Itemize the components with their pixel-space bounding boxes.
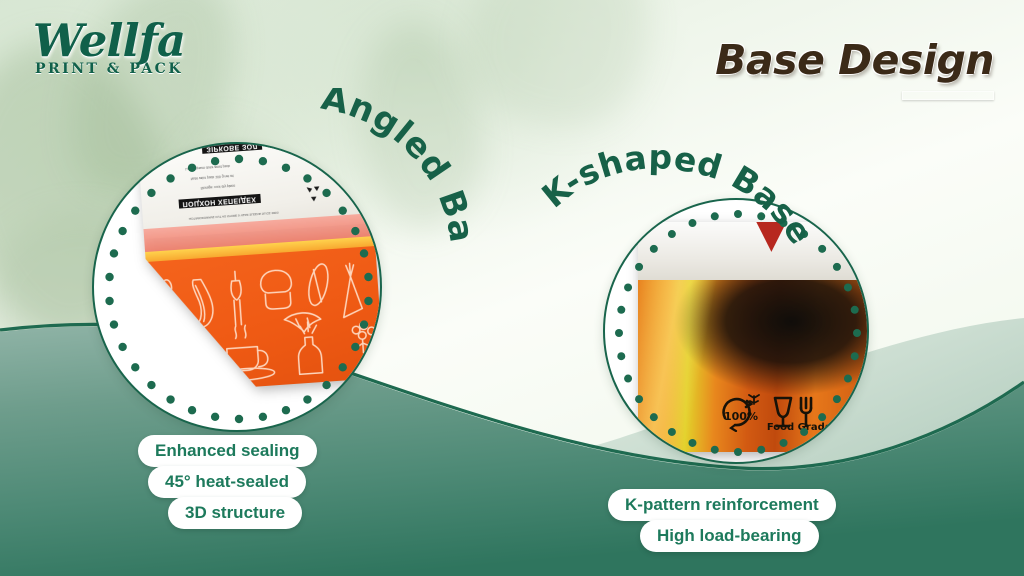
slide-canvas: Wellfa PRINT & PACK Base Design ЗІРКОВЕ …	[0, 0, 1024, 576]
feature-pill-load-bearing[interactable]: High load-bearing	[640, 520, 819, 552]
page-title: Base Design	[715, 38, 994, 82]
feature-pill-k-pattern[interactable]: K-pattern reinforcement	[608, 489, 836, 521]
feature-pill-enhanced-sealing[interactable]: Enhanced sealing	[138, 435, 317, 467]
brand-logo: Wellfa PRINT & PACK	[14, 18, 204, 90]
feature-pill-heat-sealed[interactable]: 45° heat-sealed	[148, 466, 306, 498]
k-circle-dot-ring	[605, 200, 869, 464]
title-underline-segment-right	[939, 92, 993, 99]
brand-name: Wellfa	[14, 18, 204, 64]
page-title-block: Base Design	[715, 38, 994, 100]
brand-tagline: PRINT & PACK	[14, 61, 204, 77]
feature-pill-3d-structure[interactable]: 3D structure	[168, 497, 302, 529]
title-underline	[902, 91, 994, 100]
angled-base-photo-circle[interactable]: ЗІРКОВЕ ЗОЛ Lorem ipsum dolor amet pack …	[92, 142, 382, 432]
k-shaped-base-photo-circle[interactable]: 100% Food Grade	[603, 198, 869, 464]
angled-circle-dot-ring	[94, 144, 382, 432]
title-underline-segment-left	[903, 92, 939, 99]
